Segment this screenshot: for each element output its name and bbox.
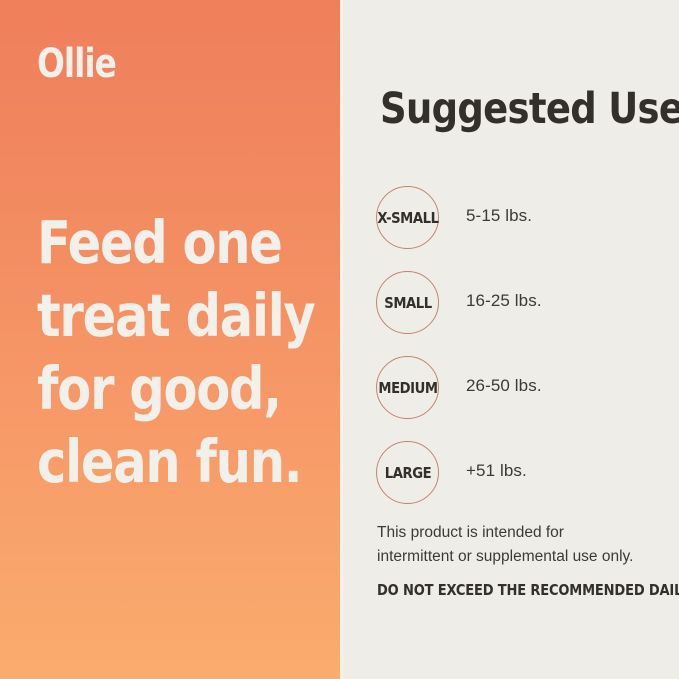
- list-item: MEDIUM 26-50 lbs.: [376, 356, 676, 441]
- size-guide-list: X-SMALL 5-15 lbs. SMALL 16-25 lbs. MEDIU…: [376, 186, 676, 526]
- size-badge-label: MEDIUM: [378, 379, 437, 397]
- page-title: Suggested Use: [380, 87, 679, 132]
- disclaimer-line: intermittent or supplemental use only.: [377, 545, 677, 569]
- size-weight-range: +51 lbs.: [466, 461, 527, 481]
- size-badge-circle: MEDIUM: [376, 356, 439, 419]
- size-weight-range: 16-25 lbs.: [466, 291, 542, 311]
- disclaimer-warning: DO NOT EXCEED THE RECOMMENDED DAILY AMOU…: [377, 581, 638, 599]
- brand-logo: Ollie: [37, 44, 116, 84]
- list-item: LARGE +51 lbs.: [376, 441, 676, 526]
- headline-line: for good,: [37, 352, 281, 425]
- list-item: SMALL 16-25 lbs.: [376, 271, 676, 356]
- size-badge-circle: SMALL: [376, 271, 439, 334]
- size-badge-circle: X-SMALL: [376, 186, 439, 249]
- headline-line: treat daily: [37, 279, 281, 352]
- disclaimer-body: This product is intended for intermitten…: [377, 521, 677, 569]
- hero-panel: Ollie Feed one treat daily for good, cle…: [0, 0, 340, 679]
- disclaimer-line: This product is intended for: [377, 521, 677, 545]
- headline-line: Feed one: [37, 206, 281, 279]
- hero-headline: Feed one treat daily for good, clean fun…: [37, 206, 281, 498]
- size-weight-range: 5-15 lbs.: [466, 206, 532, 226]
- size-badge-label: LARGE: [384, 464, 430, 482]
- headline-line: clean fun.: [37, 425, 281, 498]
- suggested-use-panel: Suggested Use X-SMALL 5-15 lbs. SMALL 16…: [343, 0, 679, 679]
- size-weight-range: 26-50 lbs.: [466, 376, 542, 396]
- list-item: X-SMALL 5-15 lbs.: [376, 186, 676, 271]
- product-info-graphic: Ollie Feed one treat daily for good, cle…: [0, 0, 679, 679]
- disclaimer: This product is intended for intermitten…: [377, 521, 677, 599]
- size-badge-label: SMALL: [384, 294, 431, 312]
- size-badge-circle: LARGE: [376, 441, 439, 504]
- size-badge-label: X-SMALL: [377, 209, 438, 227]
